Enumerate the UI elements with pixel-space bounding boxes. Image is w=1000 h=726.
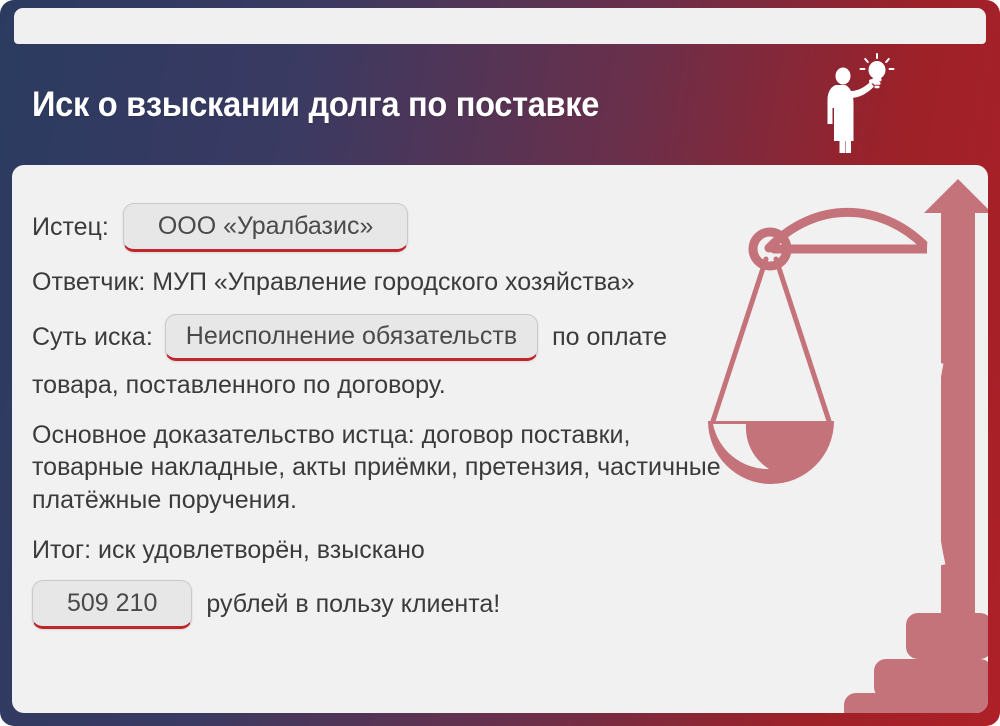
evidence-row: Основное доказательство истца: договор п… (32, 419, 988, 517)
amount-value-chip[interactable]: 509 210 (32, 580, 192, 629)
top-accent-strip (14, 8, 986, 44)
result-label: Итог: иск удовлетворён, взыскано (32, 534, 988, 566)
page-title: Иск о взыскании долга по поставке (32, 85, 599, 125)
defendant-line: Ответчик: МУП «Управление городского хоз… (32, 266, 988, 298)
plaintiff-value-chip[interactable]: ООО «Уралбазис» (123, 203, 409, 252)
amount-tail-text: рублей в пользу клиента! (206, 590, 500, 619)
content-card: Истец: ООО «Уралбазис» Ответчик: МУП «Уп… (12, 165, 988, 713)
case-details: Истец: ООО «Уралбазис» Ответчик: МУП «Уп… (12, 165, 988, 629)
slide-header: Иск о взыскании долга по поставке (0, 44, 1000, 165)
plaintiff-label: Истец: (32, 213, 109, 242)
defendant-row: Ответчик: МУП «Управление городского хоз… (32, 266, 988, 298)
claim-label: Суть иска: (32, 323, 153, 352)
slide-root: Иск о взыскании долга по поставке (0, 0, 1000, 726)
result-row: Итог: иск удовлетворён, взыскано (32, 534, 988, 566)
businessman-with-lightbulb-icon (820, 48, 900, 160)
claim-value-chip[interactable]: Неисполнение обязательств (165, 314, 538, 361)
claim-continuation-text: товара, поставленного по договору. (32, 369, 988, 401)
plaintiff-row: Истец: ООО «Уралбазис» (32, 203, 988, 252)
claim-continuation-row: товара, поставленного по договору. (32, 369, 988, 401)
claim-tail-text: по оплате (552, 323, 667, 352)
claim-row: Суть иска: Неисполнение обязательств по … (32, 314, 988, 361)
amount-row: 509 210 рублей в пользу клиента! (32, 580, 988, 629)
evidence-text: Основное доказательство истца: договор п… (32, 419, 722, 517)
